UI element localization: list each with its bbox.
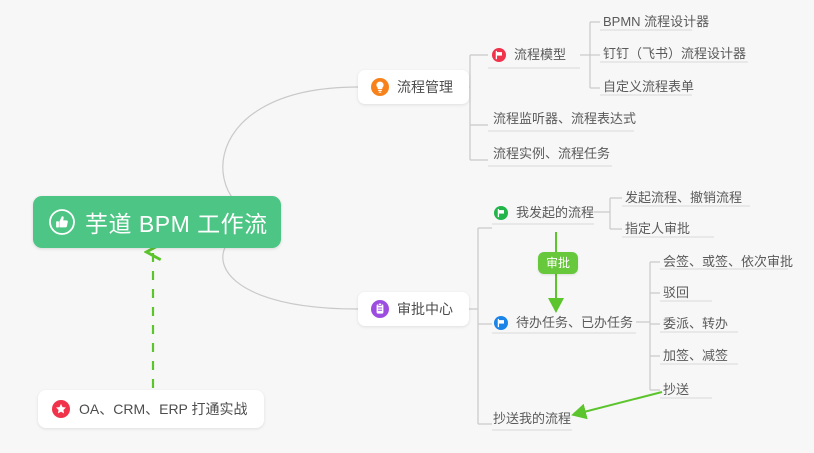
- node-cc[interactable]: 抄送: [660, 379, 693, 401]
- node-start-cancel-process[interactable]: 发起流程、撤销流程: [622, 187, 746, 209]
- node-my-initiated-process[interactable]: 我发起的流程: [494, 202, 598, 224]
- node-process-listener-expression[interactable]: 流程监听器、流程表达式: [490, 108, 640, 130]
- node-process-instance-task[interactable]: 流程实例、流程任务: [490, 143, 614, 165]
- arrow-cc-to-cc-mine: [576, 392, 662, 414]
- mindmap-canvas: 芋道 BPM 工作流 流程管理 流程模型 BPMN 流程设计器 钉钉（飞书）流程…: [0, 0, 814, 453]
- node-delegate-transfer[interactable]: 委派、转办: [660, 313, 732, 335]
- callout-integration-label: OA、CRM、ERP 打通实战: [79, 399, 248, 419]
- node-cc-my-process[interactable]: 抄送我的流程: [490, 408, 575, 430]
- node-my-initiated-process-label: 我发起的流程: [516, 202, 594, 224]
- approval-badge: 审批: [538, 252, 578, 274]
- root-label: 芋道 BPM 工作流: [85, 205, 268, 239]
- root-node[interactable]: 芋道 BPM 工作流: [33, 196, 281, 248]
- clipboard-icon: [371, 300, 389, 318]
- callout-integration[interactable]: OA、CRM、ERP 打通实战: [38, 390, 264, 428]
- node-custom-process-form[interactable]: 自定义流程表单: [600, 76, 698, 98]
- branch-node-process-management[interactable]: 流程管理: [358, 70, 469, 104]
- branch-node-approval-center[interactable]: 审批中心: [358, 292, 469, 326]
- node-assignee-approval[interactable]: 指定人审批: [622, 218, 694, 240]
- flag-icon: [494, 316, 508, 330]
- flag-icon: [494, 206, 508, 220]
- node-add-remove-sign[interactable]: 加签、减签: [660, 345, 732, 367]
- node-todo-done-tasks-label: 待办任务、已办任务: [516, 312, 633, 334]
- star-icon: [52, 400, 70, 418]
- flag-icon: [492, 48, 506, 62]
- node-countersign-orsign-sequential[interactable]: 会签、或签、依次审批: [660, 251, 797, 273]
- node-todo-done-tasks[interactable]: 待办任务、已办任务: [494, 312, 637, 334]
- branch-label-process-management: 流程管理: [397, 77, 453, 97]
- node-bpmn-designer[interactable]: BPMN 流程设计器: [600, 11, 713, 33]
- lightbulb-icon: [371, 78, 389, 96]
- node-process-model[interactable]: 流程模型: [492, 44, 570, 66]
- thumbs-up-icon: [49, 209, 75, 235]
- node-reject[interactable]: 驳回: [660, 282, 693, 304]
- node-dingtalk-feishu-designer[interactable]: 钉钉（飞书）流程设计器: [600, 43, 750, 65]
- node-process-model-label: 流程模型: [514, 44, 566, 66]
- branch-label-approval-center: 审批中心: [397, 299, 453, 319]
